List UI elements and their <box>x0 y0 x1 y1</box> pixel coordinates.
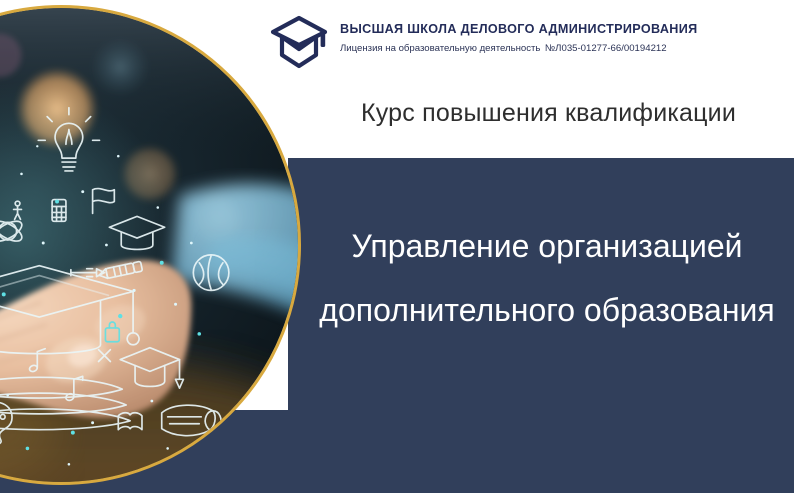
illustration-clip <box>0 0 794 493</box>
presentation-slide: ВЫСШАЯ ШКОЛА ДЕЛОВОГО АДМИНИСТРИРОВАНИЯ … <box>0 0 794 493</box>
illustration-circle <box>0 5 301 485</box>
illustration-photo <box>0 8 298 482</box>
